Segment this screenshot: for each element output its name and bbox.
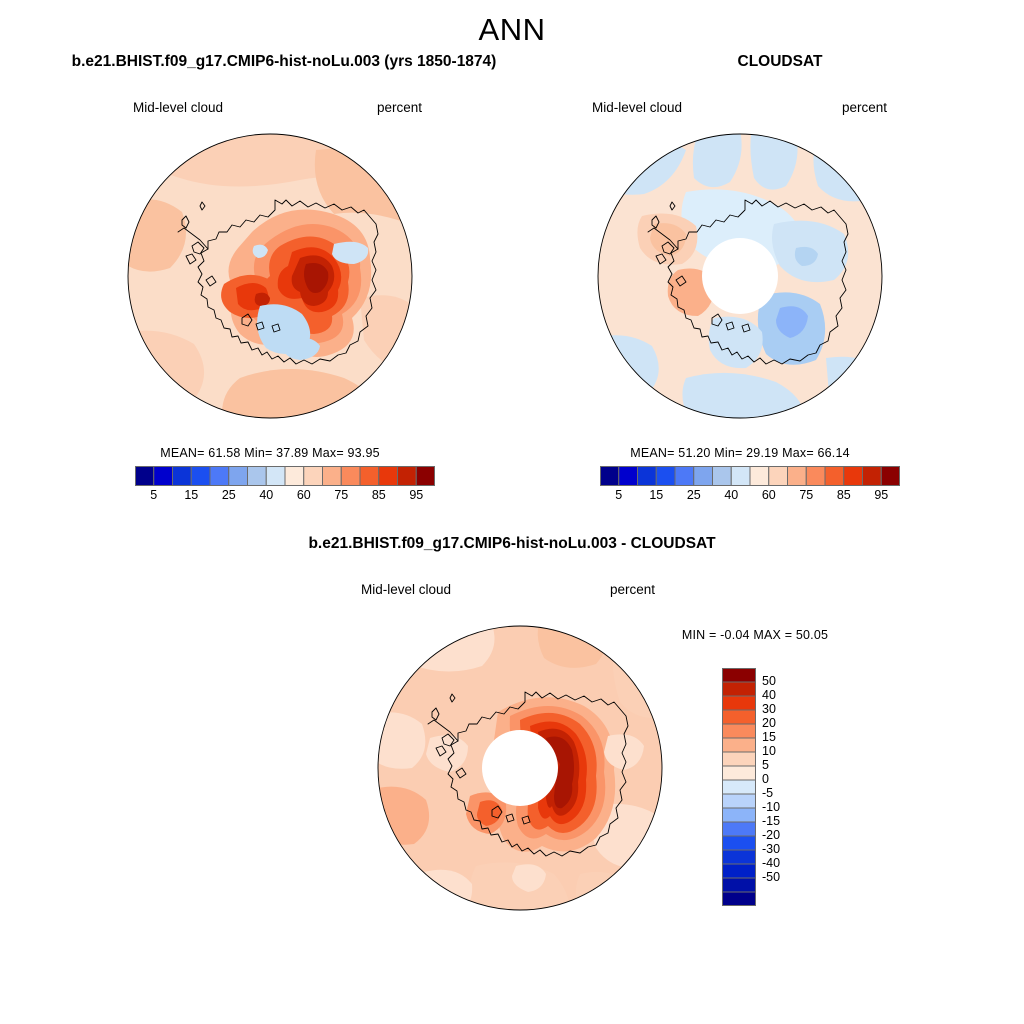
colorbar-cell [341,467,360,486]
colorbar-tick-label: -5 [762,786,773,800]
colorbar-tick-label: 60 [749,488,789,502]
colorbar-tick-label: 5 [599,488,639,502]
right-colorbar[interactable] [600,466,900,486]
colorbar-tick-label: 40 [246,488,286,502]
colorbar-cell [379,467,398,486]
left-polar-map [120,128,420,428]
left-stats: MEAN= 61.58 Min= 37.89 Max= 93.95 [120,446,420,460]
colorbar-cell [173,467,192,486]
right-unit-label: percent [842,100,887,115]
colorbar-cell [723,766,756,780]
colorbar-cell [723,752,756,766]
colorbar-cell [191,467,210,486]
left-colorbar[interactable] [135,466,435,486]
colorbar-tick-label: 5 [762,758,769,772]
colorbar-tick-label: 75 [321,488,361,502]
diff-polar-map [370,620,670,920]
colorbar-tick-label: 10 [762,744,776,758]
colorbar-cell [723,892,756,906]
diff-unit-label: percent [610,582,655,597]
colorbar-tick-label: 15 [762,730,776,744]
colorbar-cell [723,738,756,752]
diff-colorbar[interactable] [722,668,756,906]
colorbar-cell [304,467,323,486]
left-panel-title: b.e21.BHIST.f09_g17.CMIP6-hist-noLu.003 … [24,53,544,71]
colorbar-tick-label: 30 [762,702,776,716]
colorbar-cell [863,467,882,486]
colorbar-cell [135,467,154,486]
colorbar-cell [285,467,304,486]
right-stats: MEAN= 51.20 Min= 29.19 Max= 66.14 [590,446,890,460]
right-variable-label: Mid-level cloud [592,100,682,115]
colorbar-tick-label: 40 [762,688,776,702]
diff-panel-title: b.e21.BHIST.f09_g17.CMIP6-hist-noLu.003 … [122,535,902,553]
colorbar-cell [229,467,248,486]
diff-colorbar-labels: 50403020151050-5-10-15-20-30-40-50 [762,668,822,906]
colorbar-cell [723,780,756,794]
colorbar-tick-label: 50 [762,674,776,688]
colorbar-tick-label: 5 [134,488,174,502]
colorbar-cell [723,710,756,724]
colorbar-tick-label: 40 [711,488,751,502]
left-unit-label: percent [377,100,422,115]
colorbar-cell [656,467,675,486]
colorbar-cell [723,808,756,822]
colorbar-cell [723,668,756,682]
colorbar-cell [723,682,756,696]
right-colorbar-ticks: 515254060758595 [600,488,900,508]
colorbar-tick-label: -20 [762,828,780,842]
colorbar-cell [723,836,756,850]
colorbar-tick-label: 20 [762,716,776,730]
colorbar-tick-label: 85 [359,488,399,502]
colorbar-cell [788,467,807,486]
colorbar-cell [416,467,435,486]
colorbar-cell [248,467,267,486]
diff-variable-label: Mid-level cloud [361,582,451,597]
colorbar-cell [723,878,756,892]
colorbar-cell [266,467,285,486]
colorbar-tick-label: 75 [786,488,826,502]
colorbar-cell [713,467,732,486]
colorbar-tick-label: 95 [396,488,436,502]
colorbar-tick-label: -40 [762,856,780,870]
colorbar-cell [360,467,379,486]
left-variable-label: Mid-level cloud [133,100,223,115]
page-title: ANN [0,12,1024,48]
right-polar-map [590,128,890,428]
colorbar-tick-label: 15 [636,488,676,502]
colorbar-cell [323,467,342,486]
left-colorbar-ticks: 515254060758595 [135,488,435,508]
colorbar-cell [675,467,694,486]
colorbar-tick-label: 15 [171,488,211,502]
colorbar-cell [750,467,769,486]
colorbar-tick-label: -30 [762,842,780,856]
colorbar-cell [844,467,863,486]
colorbar-cell [210,467,229,486]
colorbar-tick-label: 25 [209,488,249,502]
colorbar-tick-label: 0 [762,772,769,786]
colorbar-cell [154,467,173,486]
colorbar-cell [723,794,756,808]
colorbar-cell [600,467,619,486]
right-panel-title: CLOUDSAT [580,53,980,71]
colorbar-cell [723,864,756,878]
colorbar-cell [723,724,756,738]
colorbar-cell [723,850,756,864]
colorbar-tick-label: 95 [861,488,901,502]
colorbar-tick-label: 25 [674,488,714,502]
colorbar-cell [619,467,638,486]
colorbar-cell [881,467,900,486]
colorbar-cell [638,467,657,486]
colorbar-cell [723,822,756,836]
colorbar-cell [769,467,788,486]
colorbar-tick-label: -10 [762,800,780,814]
colorbar-tick-label: 60 [284,488,324,502]
colorbar-cell [723,696,756,710]
colorbar-tick-label: 85 [824,488,864,502]
colorbar-cell [825,467,844,486]
colorbar-cell [398,467,417,486]
colorbar-cell [694,467,713,486]
colorbar-tick-label: -15 [762,814,780,828]
colorbar-cell [731,467,750,486]
colorbar-cell [806,467,825,486]
colorbar-tick-label: -50 [762,870,780,884]
